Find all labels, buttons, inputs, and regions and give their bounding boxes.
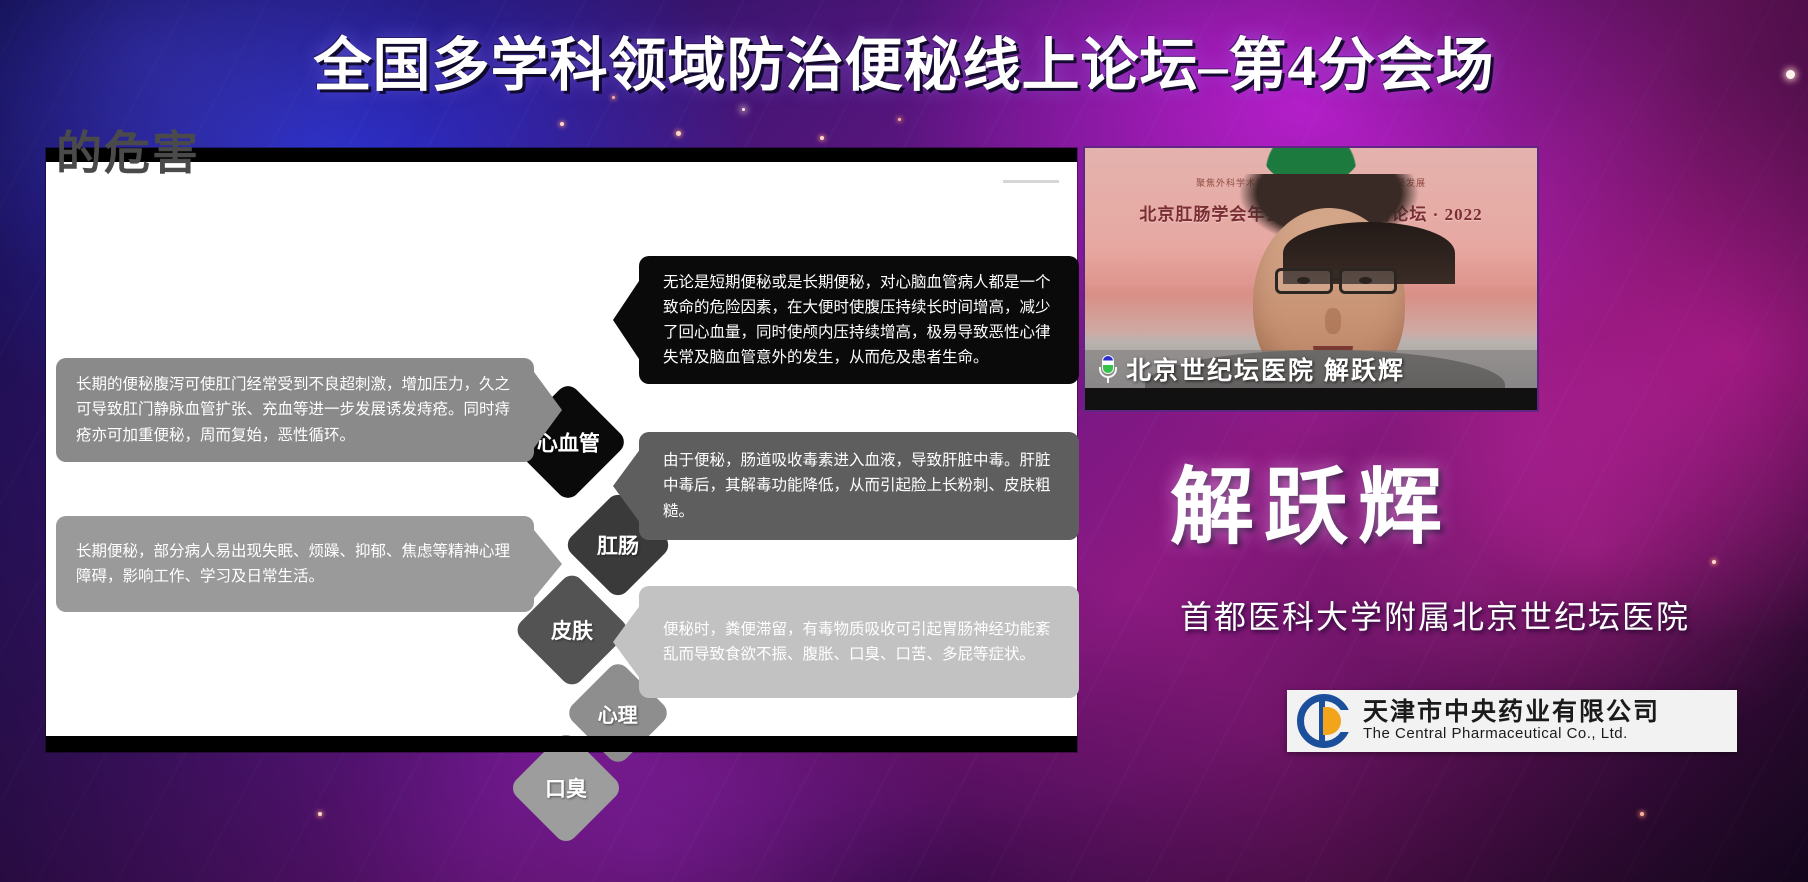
callout-text: 长期的便秘腹泻可使肛门经常受到不良超刺激，增加压力，久之可导致肛门静脉血管扩张、… (76, 372, 510, 447)
callout-anorectal-pointer (534, 372, 562, 448)
callout-cardiovascular-pointer (613, 278, 641, 362)
spark-particle (898, 118, 901, 121)
speaker-name: 解跃辉 (1085, 440, 1537, 561)
glasses-bridge-icon (1333, 278, 1341, 281)
forum-title-bar: 全国多学科领域防治便秘线上论坛–第4分会场 (0, 14, 1808, 106)
slide-header-title: 的危害 (56, 122, 200, 184)
central-pharmaceutical-logo-icon (1297, 694, 1351, 748)
video-overlay-name: 北京世纪坛医院 解跃辉 (1126, 351, 1405, 387)
callout-psychology: 长期便秘，部分病人易出现失眠、烦躁、抑郁、焦虑等精神心理障碍，影响工作、学习及日… (56, 516, 534, 612)
callout-text: 长期便秘，部分病人易出现失眠、烦躁、抑郁、焦虑等精神心理障碍，影响工作、学习及日… (76, 539, 510, 589)
spark-particle (318, 812, 322, 816)
broadcast-stage: 全国多学科领域防治便秘线上论坛–第4分会场 的危害 心血管 肛肠 皮肤 心理 口… (0, 0, 1808, 882)
speaker-eye-left (1297, 277, 1310, 284)
spark-particle (820, 136, 824, 140)
diamond-label: 肛肠 (597, 530, 639, 560)
slide-bottom-band (46, 736, 1077, 752)
speaker-eye-right (1359, 277, 1372, 284)
sponsor-logo-block: 天津市中央药业有限公司 The Central Pharmaceutical C… (1287, 690, 1737, 752)
speaker-video-panel[interactable]: 聚焦外科学术创新，推动京津冀肛肠学科高质量发展 北京肛肠学会年会暨京津冀肛肠论坛… (1085, 148, 1537, 410)
spark-particle (1640, 812, 1644, 816)
callout-psychology-pointer (534, 530, 562, 598)
speaker-affiliation: 首都医科大学附属北京世纪坛医院 (1085, 592, 1785, 638)
spark-particle (676, 131, 681, 136)
video-bottom-strip (1085, 388, 1537, 410)
presentation-slide: 的危害 心血管 肛肠 皮肤 心理 口臭 无论是短期便秘或是长期便秘，对心脑血管病… (46, 148, 1077, 752)
slide-top-band (46, 148, 1077, 162)
slide-header-rule (1003, 180, 1059, 183)
callout-skin: 由于便秘，肠道吸收毒素进入血液，导致肝脏中毒。肝脏中毒后，其解毒功能降低，从而引… (639, 432, 1079, 540)
callout-halitosis: 便秘时，粪便滞留，有毒物质吸收可引起胃肠神经功能紊乱而导致食欲不振、腹胀、口臭、… (639, 586, 1079, 698)
speaker-nose (1325, 308, 1341, 334)
video-name-overlay: 北京世纪坛医院 解跃辉 (1085, 350, 1537, 388)
callout-text: 便秘时，粪便滞留，有毒物质吸收可引起胃肠神经功能紊乱而导致食欲不振、腹胀、口臭、… (663, 617, 1061, 667)
callout-skin-pointer (613, 448, 641, 524)
spark-particle (742, 108, 745, 111)
callout-cardiovascular: 无论是短期便秘或是长期便秘，对心脑血管病人都是一个致命的危险因素，在大便时使腹压… (639, 256, 1079, 384)
forum-title: 全国多学科领域防治便秘线上论坛–第4分会场 (313, 18, 1494, 102)
diamond-label: 心理 (598, 699, 638, 728)
callout-anorectal: 长期的便秘腹泻可使肛门经常受到不良超刺激，增加压力，久之可导致肛门静脉血管扩张、… (56, 358, 534, 462)
callout-halitosis-pointer (613, 604, 641, 680)
sponsor-name-cn: 天津市中央药业有限公司 (1363, 700, 1660, 727)
diamond-label: 皮肤 (551, 615, 593, 645)
spark-particle (560, 122, 564, 126)
callout-text: 由于便秘，肠道吸收毒素进入血液，导致肝脏中毒。肝脏中毒后，其解毒功能降低，从而引… (663, 448, 1061, 523)
sponsor-name-en: The Central Pharmaceutical Co., Ltd. (1363, 726, 1660, 742)
microphone-icon (1099, 355, 1117, 383)
diamond-label: 口臭 (545, 773, 587, 803)
spark-particle (1712, 560, 1716, 564)
callout-text: 无论是短期便秘或是长期便秘，对心脑血管病人都是一个致命的危险因素，在大便时使腹压… (663, 270, 1061, 370)
